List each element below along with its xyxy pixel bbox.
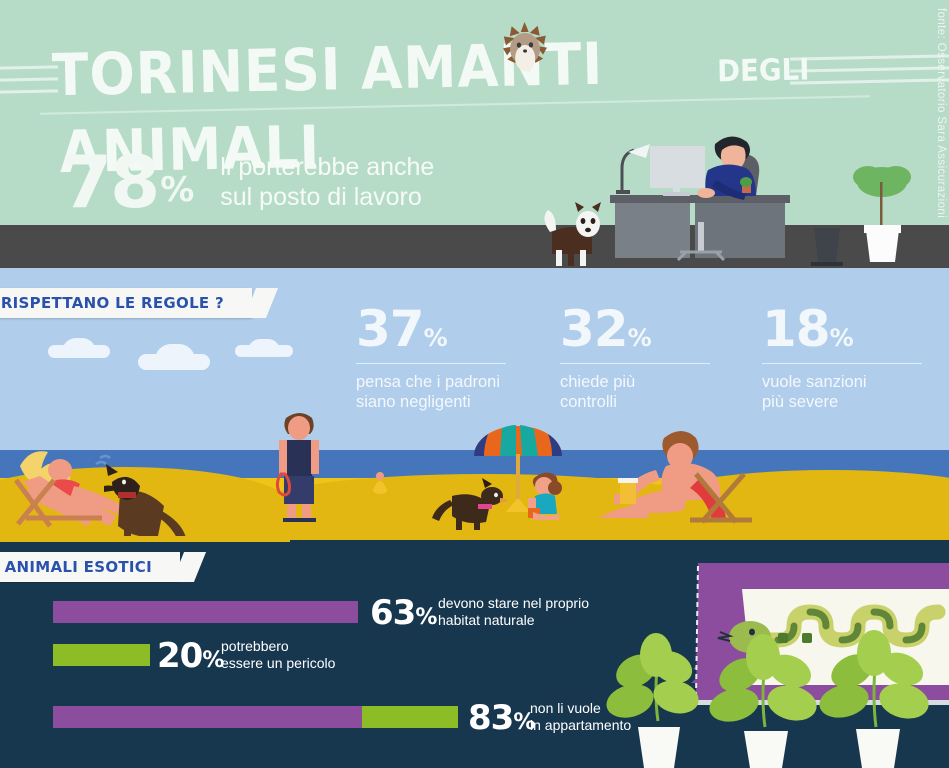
exotic-banner: ANIMALI ESOTICI bbox=[0, 552, 180, 582]
exotic-bar-0-line2: habitat naturale bbox=[438, 612, 535, 628]
exotic-bar-0-value: 63% bbox=[370, 596, 436, 630]
rules-stat-0-value: 37 bbox=[356, 300, 424, 358]
beach-man-chair bbox=[598, 431, 752, 522]
office-dog bbox=[544, 202, 601, 266]
rules-stat-1-divider bbox=[560, 363, 710, 365]
exotic-bar-2-line1: non li vuole bbox=[530, 700, 601, 716]
office-scene bbox=[530, 120, 949, 270]
rules-stat-2-percent: % bbox=[830, 324, 853, 352]
title-part-small: DEGLI bbox=[717, 37, 811, 105]
rules-stat-0-divider bbox=[356, 363, 506, 365]
cloud-1b bbox=[62, 338, 96, 354]
beach-float-child bbox=[373, 472, 387, 494]
beach-scene bbox=[0, 400, 949, 536]
exotic-banner-label: ANIMALI ESOTICI bbox=[5, 558, 152, 576]
exotic-bar-2-number: 83 bbox=[468, 698, 513, 738]
exotic-bar-0-number: 63 bbox=[370, 593, 415, 633]
exotic-bar-1-line2: essere un pericolo bbox=[221, 655, 335, 671]
rules-stat-2: 18% vuole sanzioni più severe bbox=[762, 306, 922, 412]
exotic-bar-1-label: potrebbero essere un pericolo bbox=[221, 638, 335, 671]
infographic-canvas: TORINESI AMANTI DEGLI ANIMALI bbox=[0, 0, 949, 768]
rules-banner-label: ...MA RISPETTANO LE REGOLE ? bbox=[0, 294, 224, 312]
exotic-bar-0-label: devono stare nel proprio habitat natural… bbox=[438, 595, 589, 628]
exotic-bar-1 bbox=[53, 644, 150, 666]
terrarium-scene bbox=[600, 545, 949, 768]
exotic-bar-0-line1: devono stare nel proprio bbox=[438, 595, 589, 611]
rules-stat-1: 32% chiede più controlli bbox=[560, 306, 710, 412]
work-stat-line1: li porterebbe anche bbox=[220, 153, 434, 181]
rules-stat-2-divider bbox=[762, 363, 922, 365]
exotic-bar-1-number: 20 bbox=[157, 636, 202, 676]
office-plant bbox=[853, 166, 911, 262]
work-stat-line2: sul posto di lavoro bbox=[220, 183, 422, 211]
beach-woman-dog bbox=[16, 451, 186, 536]
beach-standing-man bbox=[277, 413, 319, 522]
rules-stat-1-value: 32 bbox=[560, 300, 628, 358]
exotic-bar-0-percent: % bbox=[415, 605, 436, 630]
work-stat-percent: % bbox=[160, 170, 194, 210]
work-stat: 78 % li porterebbe anche sul posto di la… bbox=[62, 152, 434, 214]
rules-stat-1-line1: chiede più bbox=[560, 373, 635, 391]
work-stat-value: 78 bbox=[62, 152, 158, 214]
rules-stat-0: 37% pensa che i padroni siano negligenti bbox=[356, 306, 506, 412]
cloud-3b bbox=[248, 339, 280, 353]
page-title: TORINESI AMANTI DEGLI ANIMALI bbox=[51, 26, 842, 109]
rules-banner: ...MA RISPETTANO LE REGOLE ? bbox=[0, 288, 252, 318]
exotic-bar-2-green bbox=[362, 706, 458, 728]
rules-stat-1-percent: % bbox=[628, 324, 651, 352]
beach-child bbox=[528, 472, 562, 520]
rules-stat-2-value: 18 bbox=[762, 300, 830, 358]
exotic-bar-2-line2: in appartamento bbox=[530, 717, 631, 733]
beach-dog-2 bbox=[432, 478, 508, 530]
hedgehog-icon bbox=[502, 22, 549, 75]
rules-stat-0-percent: % bbox=[424, 324, 447, 352]
exotic-bar-2-label: non li vuole in appartamento bbox=[530, 700, 631, 733]
exotic-bar-1-value: 20% bbox=[157, 639, 223, 673]
exotic-bar-2-value: 83% bbox=[468, 701, 534, 735]
exotic-bar-2-purple bbox=[53, 706, 362, 728]
cloud-2b bbox=[155, 344, 195, 362]
rules-stat-0-line1: pensa che i padroni bbox=[356, 373, 500, 391]
work-stat-description: li porterebbe anche sul posto di lavoro bbox=[220, 153, 434, 212]
exotic-bar-1-line1: potrebbero bbox=[221, 638, 289, 654]
exotic-bar-0 bbox=[53, 601, 358, 623]
rules-stat-2-line1: vuole sanzioni bbox=[762, 373, 867, 391]
